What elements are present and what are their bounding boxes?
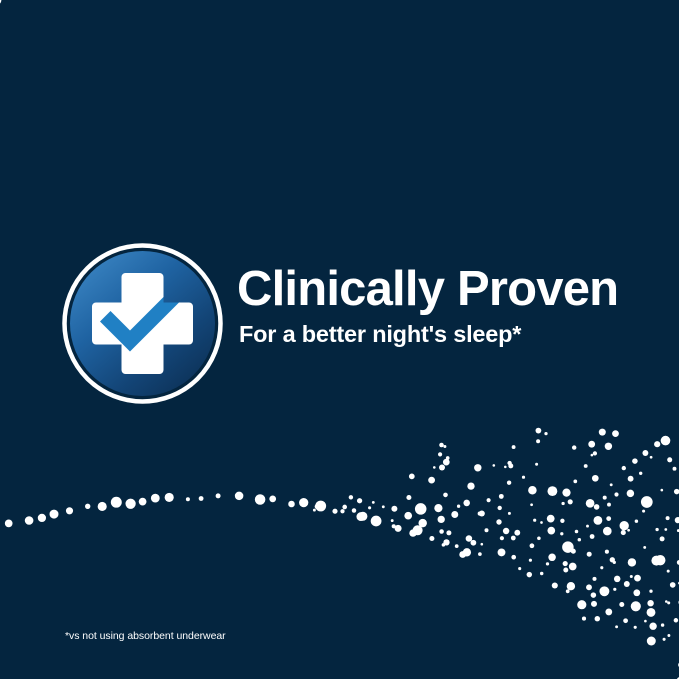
- headline-group: Clinically Proven For a better night's s…: [237, 262, 667, 348]
- page-title: Clinically Proven: [237, 262, 667, 316]
- page-subtitle: For a better night's sleep*: [239, 320, 667, 348]
- footnote-text: *vs not using absorbent underwear: [65, 630, 226, 643]
- promo-banner: Clinically Proven For a better night's s…: [0, 0, 679, 679]
- clinically-proven-badge: [62, 243, 223, 404]
